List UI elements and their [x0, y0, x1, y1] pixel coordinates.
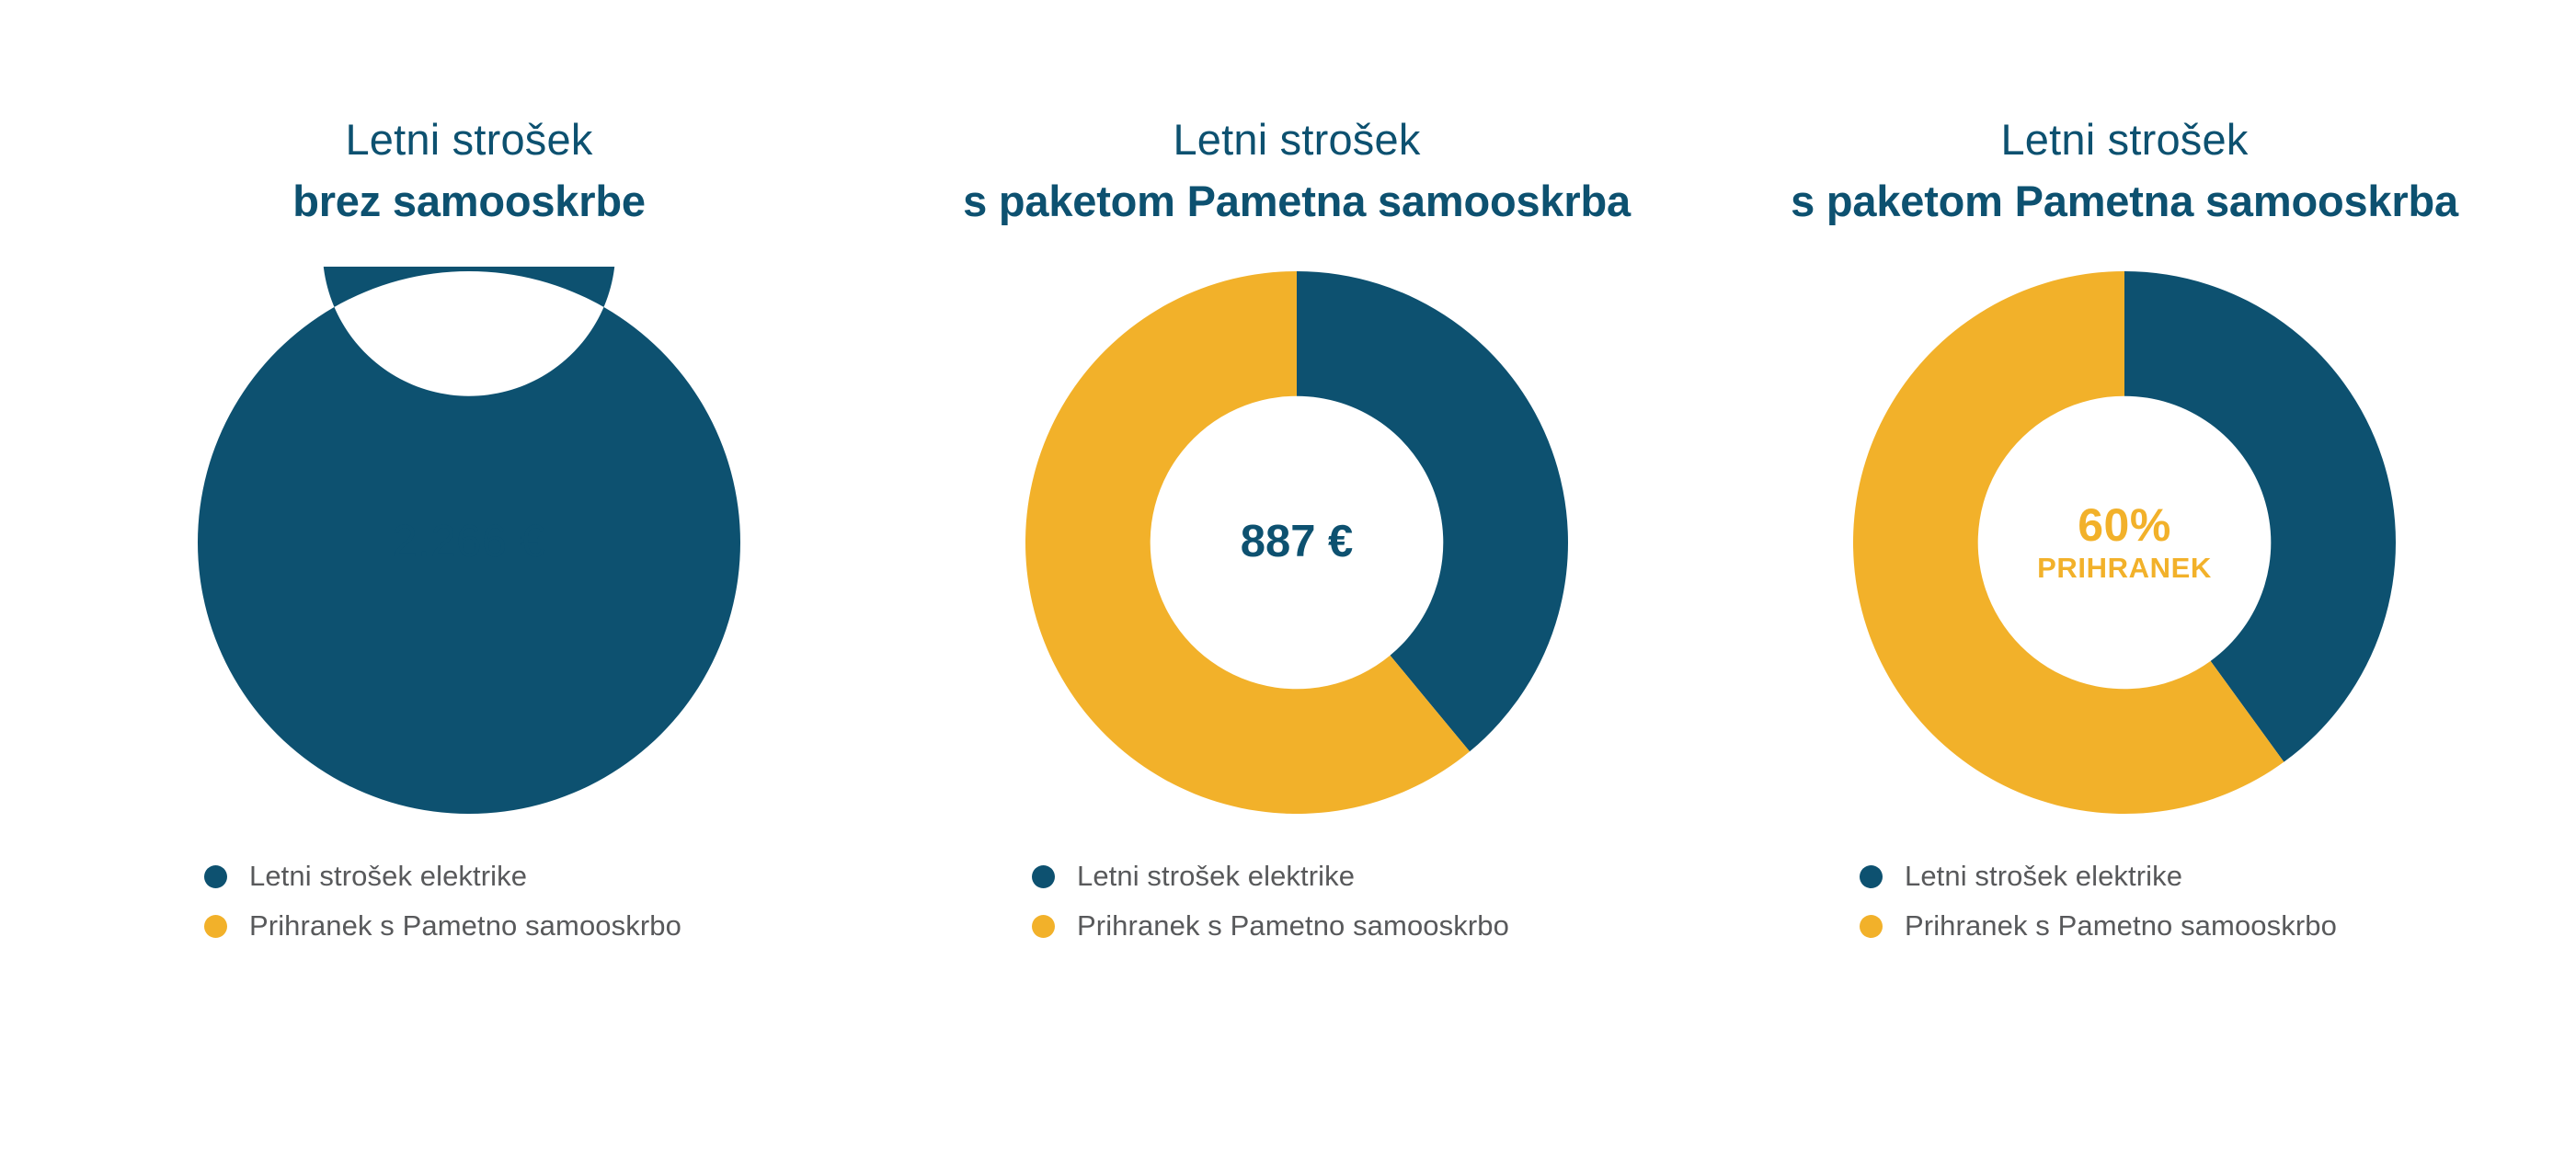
- legend-item[interactable]: Prihranek s Pametno samooskrbo: [204, 901, 745, 951]
- panel-1-title-line1: Letni strošek: [55, 118, 883, 161]
- legend-item-label: Prihranek s Pametno samooskrbo: [249, 909, 681, 943]
- panel-2-title-line1: Letni strošek: [883, 118, 1711, 161]
- legend-dot-icon: [1860, 865, 1883, 888]
- panel-2-title: Letni strošek s paketom Pametna samooskr…: [883, 118, 1711, 223]
- legend-item[interactable]: Letni strošek elektrike: [204, 851, 745, 901]
- donut-panel-2: Letni strošek s paketom Pametna samooskr…: [883, 0, 1711, 951]
- panel-3-title-line2: s paketom Pametna samooskrba: [1711, 179, 2538, 223]
- legend-item[interactable]: Letni strošek elektrike: [1032, 851, 1573, 901]
- donut-1-slices: [198, 267, 740, 814]
- legend-dot-icon: [204, 915, 227, 938]
- donut-panel-3: Letni strošek s paketom Pametna samooskr…: [1711, 0, 2538, 951]
- legend-item[interactable]: Prihranek s Pametno samooskrbo: [1032, 901, 1573, 951]
- donut-slice[interactable]: [1297, 271, 1568, 751]
- legend-dot-icon: [1032, 865, 1055, 888]
- donut-chart-3-svg: [1849, 267, 2400, 818]
- donut-2-slices: [1025, 271, 1568, 814]
- legend-dot-icon: [1860, 915, 1883, 938]
- legend-item-label: Letni strošek elektrike: [1077, 860, 1355, 893]
- donut-panel-1: Letni strošek brez samooskrbe 2.266 € Le…: [55, 0, 883, 951]
- donut-1-legend: Letni strošek elektrike Prihranek s Pame…: [193, 851, 745, 951]
- legend-item[interactable]: Letni strošek elektrike: [1860, 851, 2400, 901]
- panel-3-title: Letni strošek s paketom Pametna samooskr…: [1711, 118, 2538, 223]
- panel-3-title-line1: Letni strošek: [1711, 118, 2538, 161]
- panel-1-title-line2: brez samooskrbe: [55, 179, 883, 223]
- donut-chart-2-svg: [1021, 267, 1573, 818]
- donut-slice[interactable]: [198, 267, 740, 814]
- legend-item-label: Letni strošek elektrike: [1905, 860, 2182, 893]
- panel-1-title: Letni strošek brez samooskrbe: [55, 118, 883, 223]
- panel-2-title-line2: s paketom Pametna samooskrba: [883, 179, 1711, 223]
- infographic-root: Letni strošek brez samooskrbe 2.266 € Le…: [0, 0, 2576, 1154]
- donut-2-legend: Letni strošek elektrike Prihranek s Pame…: [1021, 851, 1573, 951]
- legend-dot-icon: [204, 865, 227, 888]
- donut-panels: Letni strošek brez samooskrbe 2.266 € Le…: [0, 0, 2576, 1154]
- legend-dot-icon: [1032, 915, 1055, 938]
- donut-chart-3: 60% PRIHRANEK: [1849, 267, 2400, 818]
- donut-3-legend: Letni strošek elektrike Prihranek s Pame…: [1849, 851, 2400, 951]
- donut-3-slices: [1853, 271, 2396, 814]
- legend-item-label: Prihranek s Pametno samooskrbo: [1077, 909, 1509, 943]
- donut-chart-1: 2.266 €: [193, 267, 745, 818]
- legend-item[interactable]: Prihranek s Pametno samooskrbo: [1860, 901, 2400, 951]
- donut-chart-1-svg: [193, 267, 745, 818]
- legend-item-label: Prihranek s Pametno samooskrbo: [1905, 909, 2337, 943]
- donut-chart-2: 887 €: [1021, 267, 1573, 818]
- legend-item-label: Letni strošek elektrike: [249, 860, 527, 893]
